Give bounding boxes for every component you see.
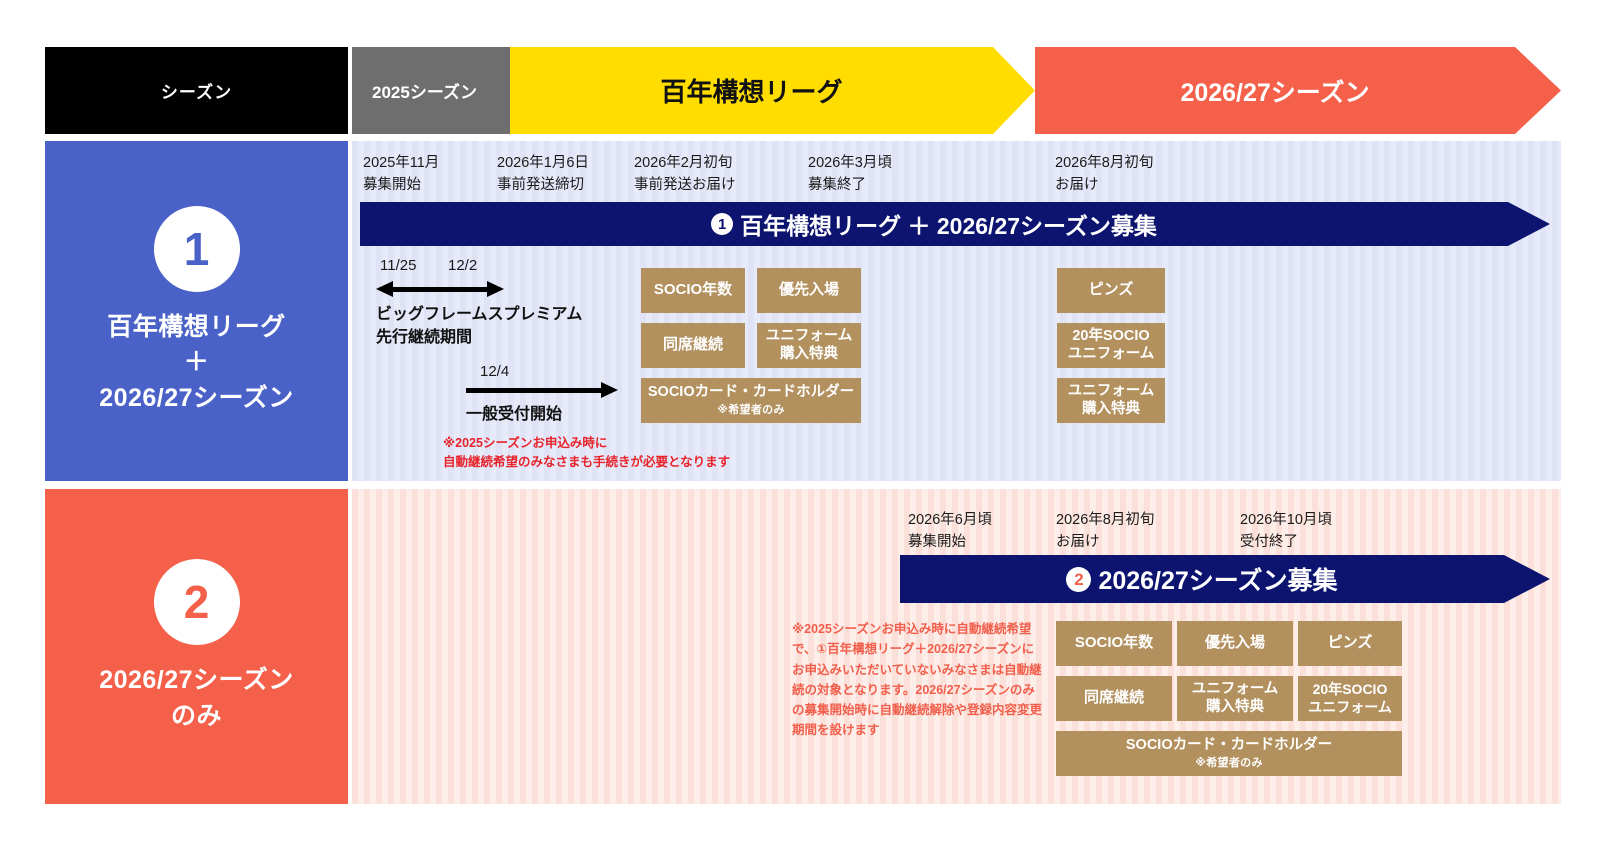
row-1-benefit-uniform-purchase-right: ユニフォーム 購入特典 [1057, 378, 1165, 423]
row-2-badge-number: 2 [184, 579, 210, 625]
row-1-bar-label: 百年構想リーグ ＋ 2026/27シーズン募集 [740, 207, 1157, 241]
row-2-benefit-socio-card-sub: ※希望者のみ [1195, 757, 1263, 770]
row-2-benefit-pins: ピンズ [1298, 621, 1402, 666]
row-2-benefit-uniform-purchase-label: ユニフォーム 購入特典 [1192, 681, 1279, 716]
row-1-benefit-pins: ピンズ [1057, 268, 1165, 313]
row-1-date-2: 2026年2月初旬 事前発送お届け [634, 152, 736, 197]
row-2-date-0: 2026年6月頃 募集開始 [908, 509, 992, 554]
header-chevron-2026-27-label: 2026/27シーズン [1180, 73, 1369, 109]
row-2-benefit-uniform-purchase: ユニフォーム 購入特典 [1177, 676, 1293, 721]
row-1-benefit-uniform-purchase-right-label: ユニフォーム 購入特典 [1068, 383, 1155, 418]
row-2-benefit-socio-card-label: SOCIOカード・カードホルダー [1126, 737, 1332, 755]
row-1-benefit-20yr-uniform: 20年SOCIO ユニフォーム [1057, 323, 1165, 368]
row-1-benefit-uniform-purchase: ユニフォーム 購入特典 [757, 323, 861, 368]
row-1-single-arrow-tick: 12/4 [480, 363, 509, 380]
row-1-sidebar-title: 百年構想リーグ ＋ 2026/27シーズン [99, 310, 294, 417]
header-season-label: シーズン [45, 47, 348, 134]
row-1-benefit-priority-entry: 優先入場 [757, 268, 861, 313]
row-2-benefit-pins-label: ピンズ [1328, 634, 1373, 652]
row-2-benefit-20yr-uniform-label: 20年SOCIO ユニフォーム [1308, 681, 1392, 715]
header-chevron-league-label: 百年構想リーグ [660, 72, 842, 109]
row-1-double-arrow-start-tick: 11/25 [380, 257, 416, 274]
row-2-bar-label: 2026/27シーズン募集 [1098, 561, 1337, 597]
row-1-double-arrow-caption: ビッグフレームスプレミアム 先行継続期間 [376, 303, 582, 349]
row-1-double-arrow-end-tick: 12/2 [448, 257, 477, 274]
row-2-bar-circled-number-icon: 2 [1066, 567, 1091, 592]
row-1-badge-number: 1 [184, 226, 210, 272]
row-1-benefit-same-seat: 同席継続 [641, 323, 745, 368]
row-1-benefit-socio-years-label: SOCIO年数 [654, 281, 732, 299]
row-1-benefit-socio-card: SOCIOカード・カードホルダー ※希望者のみ [641, 378, 861, 423]
row-1-benefit-socio-card-sub: ※希望者のみ [717, 404, 785, 417]
row-2-benefit-socio-years: SOCIO年数 [1056, 621, 1172, 666]
header-season-text: シーズン [161, 78, 232, 103]
row-2-badge-icon: 2 [154, 559, 240, 645]
header-chevron-league: 百年構想リーグ [510, 47, 1035, 134]
row-1-badge-icon: 1 [154, 206, 240, 292]
row-2-benefit-priority-entry: 優先入場 [1177, 621, 1293, 666]
row-1-benefit-socio-card-label: SOCIOカード・カードホルダー [648, 384, 854, 402]
row-2-benefit-same-seat: 同席継続 [1056, 676, 1172, 721]
row-1-single-arrow-caption: 一般受付開始 [466, 403, 562, 426]
row-1-note: ※2025シーズンお申込み時に 自動継続希望のみなさまも手続きが必要となります [443, 434, 730, 472]
row-1-benefit-pins-label: ピンズ [1089, 281, 1134, 299]
row-1-date-1: 2026年1月6日 事前発送締切 [497, 152, 589, 197]
header-chevron-2025-label: 2025シーズン [372, 78, 477, 103]
row-1-benefit-socio-years: SOCIO年数 [641, 268, 745, 313]
row-1-date-3: 2026年3月頃 募集終了 [808, 152, 892, 197]
row-2-benefit-20yr-uniform: 20年SOCIO ユニフォーム [1298, 676, 1402, 721]
row-1-benefit-uniform-purchase-label: ユニフォーム 購入特典 [766, 328, 853, 363]
timeline-infographic: シーズン 2025シーズン 百年構想リーグ 2026/27シーズン 1 百年構想… [0, 0, 1606, 867]
row-1-benefit-same-seat-label: 同席継続 [663, 336, 723, 354]
row-1-sidebar: 1 百年構想リーグ ＋ 2026/27シーズン [45, 141, 348, 481]
row-2-note: ※2025シーズンお申込み時に自動継続希望で、①百年構想リーグ＋2026/27シ… [792, 619, 1042, 741]
row-1-benefit-priority-entry-label: 優先入場 [779, 281, 839, 299]
row-2-benefit-priority-entry-label: 優先入場 [1205, 634, 1265, 652]
row-2-date-1: 2026年8月初旬 お届け [1056, 509, 1154, 554]
row-1-campaign-bar: 1 百年構想リーグ ＋ 2026/27シーズン募集 [360, 202, 1550, 246]
header-chevron-2026-27-season: 2026/27シーズン [1035, 47, 1561, 134]
row-2-date-2: 2026年10月頃 受付終了 [1240, 509, 1332, 554]
row-2-sidebar-title: 2026/27シーズン のみ [99, 663, 294, 734]
row-1-bar-circled-number-icon: 1 [711, 213, 733, 235]
row-1-date-4: 2026年8月初旬 お届け [1055, 152, 1153, 197]
row-1-date-0: 2025年11月 募集開始 [363, 152, 439, 197]
row-2-sidebar: 2 2026/27シーズン のみ [45, 489, 348, 804]
row-2-campaign-bar: 2 2026/27シーズン募集 [900, 555, 1550, 603]
row-1-benefit-20yr-uniform-label: 20年SOCIO ユニフォーム [1068, 328, 1155, 363]
row-2-benefit-socio-years-label: SOCIO年数 [1075, 634, 1153, 652]
row-1-double-arrow-icon [376, 281, 504, 297]
row-1-single-arrow-icon [466, 382, 618, 398]
row-2-benefit-socio-card: SOCIOカード・カードホルダー ※希望者のみ [1056, 731, 1402, 776]
row-2-benefit-same-seat-label: 同席継続 [1084, 689, 1144, 707]
